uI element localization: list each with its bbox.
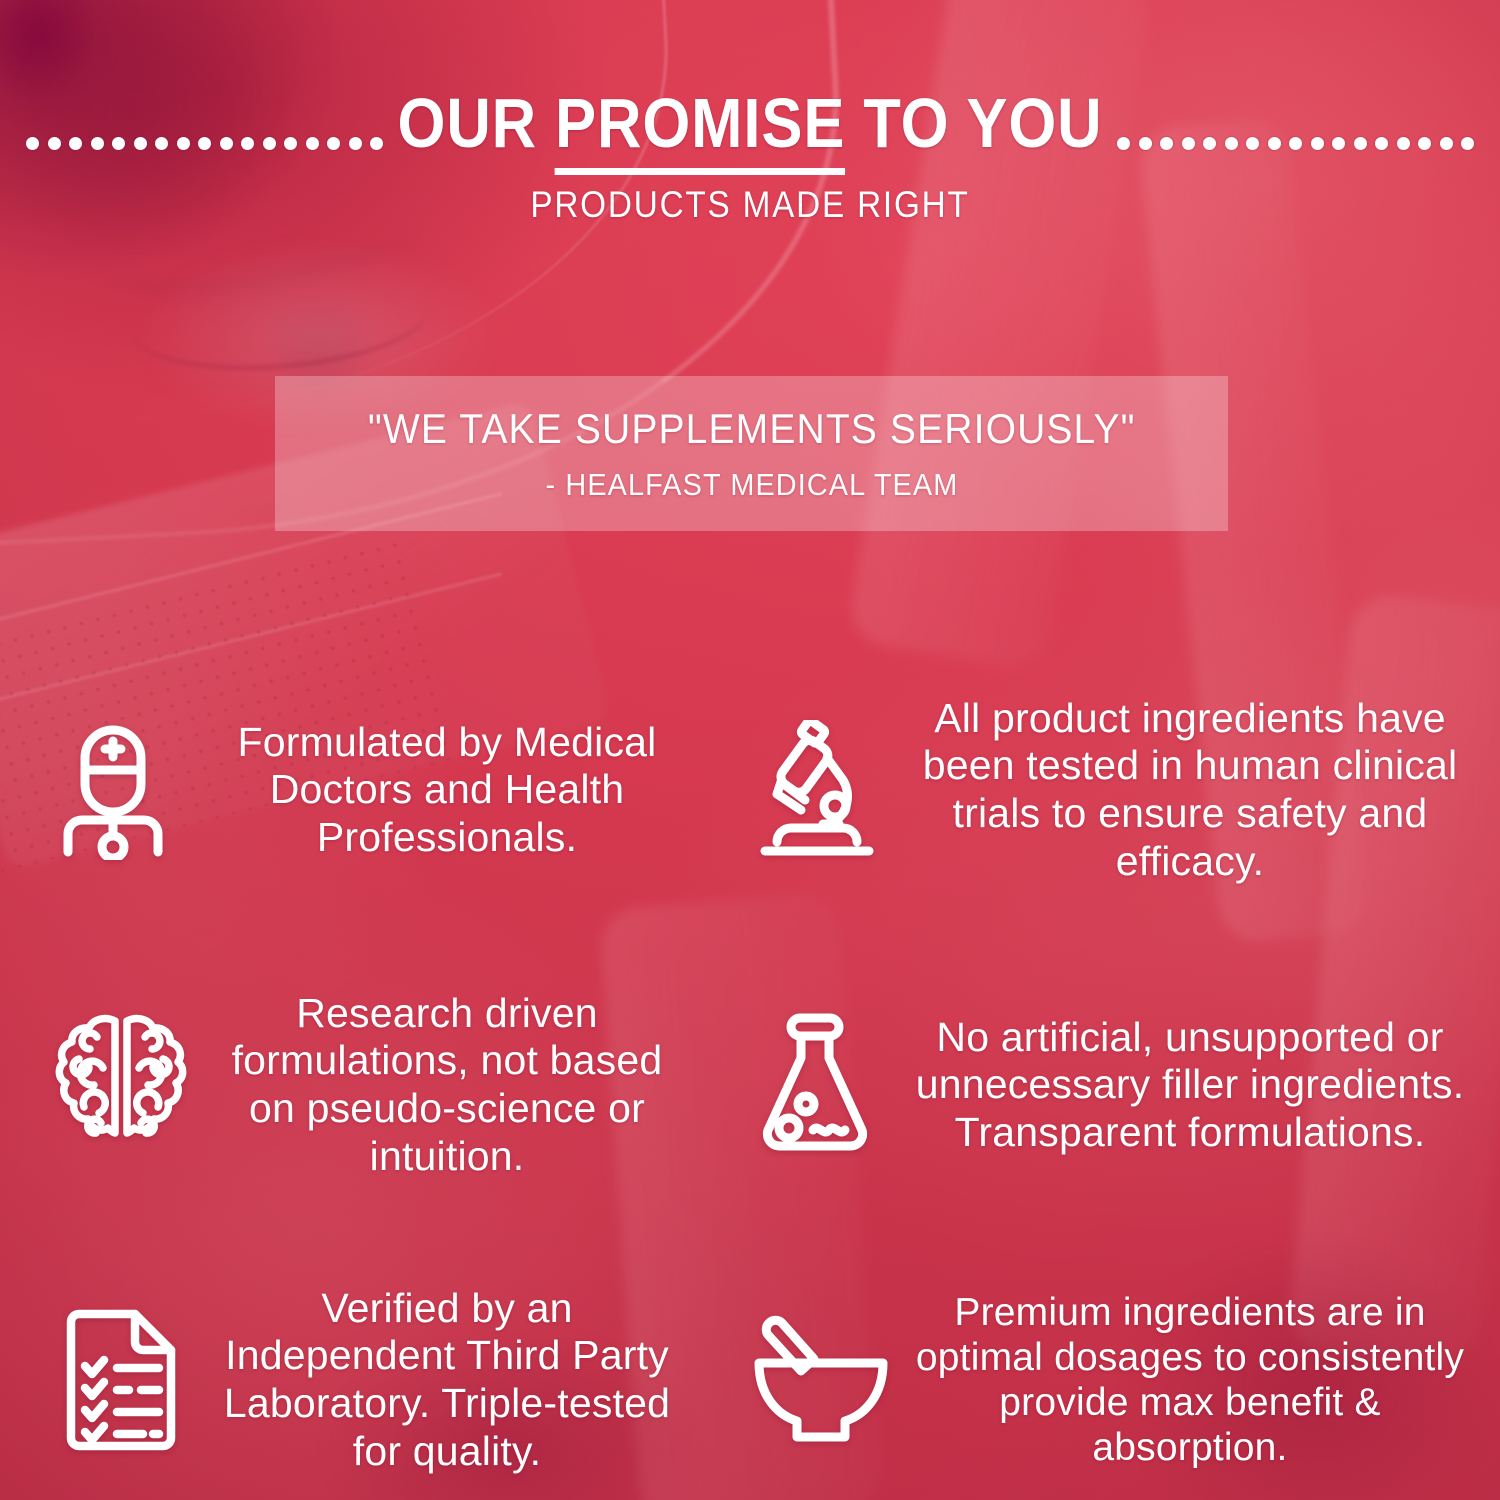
header: OUR PROMISE TO YOU PRODUCTS MADE RIGHT xyxy=(0,88,1500,226)
page-title-underlined-word: PROMISE xyxy=(555,84,845,175)
quote-attribution: - HEALFAST MEDICAL TEAM xyxy=(545,467,958,503)
brain-icon xyxy=(46,1003,196,1168)
quote-panel: "WE TAKE SUPPLEMENTS SERIOUSLY" - HEALFA… xyxy=(275,376,1228,531)
flask-icon xyxy=(746,1003,896,1168)
feature-item: All product ingredients have been tested… xyxy=(720,645,1500,935)
feature-item: No artificial, unsupported or unnecessar… xyxy=(720,935,1500,1235)
page-title: OUR PROMISE TO YOU xyxy=(90,88,1410,158)
feature-text: Formulated by Medical Doctors and Health… xyxy=(214,719,680,862)
mortar-pestle-icon xyxy=(746,1298,896,1463)
feature-text: Premium ingredients are in optimal dosag… xyxy=(914,1290,1466,1471)
feature-list: Formulated by Medical Doctors and Health… xyxy=(0,645,1500,1500)
feature-item: Premium ingredients are in optimal dosag… xyxy=(720,1235,1500,1500)
feature-text: All product ingredients have been tested… xyxy=(914,695,1466,885)
feature-text: Verified by an Independent Third Party L… xyxy=(214,1285,680,1475)
feature-item: Verified by an Independent Third Party L… xyxy=(0,1235,720,1500)
checklist-document-icon xyxy=(46,1298,196,1463)
page-title-part1: OUR xyxy=(398,84,556,162)
feature-text: Research driven formulations, not based … xyxy=(214,990,680,1180)
page-subtitle: PRODUCTS MADE RIGHT xyxy=(75,184,1425,226)
promise-infographic: OUR PROMISE TO YOU PRODUCTS MADE RIGHT "… xyxy=(0,0,1500,1500)
page-title-part2: TO YOU xyxy=(845,84,1102,162)
feature-item: Formulated by Medical Doctors and Health… xyxy=(0,645,720,935)
microscope-icon xyxy=(746,708,896,873)
doctor-icon xyxy=(46,708,196,873)
feature-text: No artificial, unsupported or unnecessar… xyxy=(914,1014,1466,1157)
quote-text: "WE TAKE SUPPLEMENTS SERIOUSLY" xyxy=(368,405,1136,453)
feature-item: Research driven formulations, not based … xyxy=(0,935,720,1235)
